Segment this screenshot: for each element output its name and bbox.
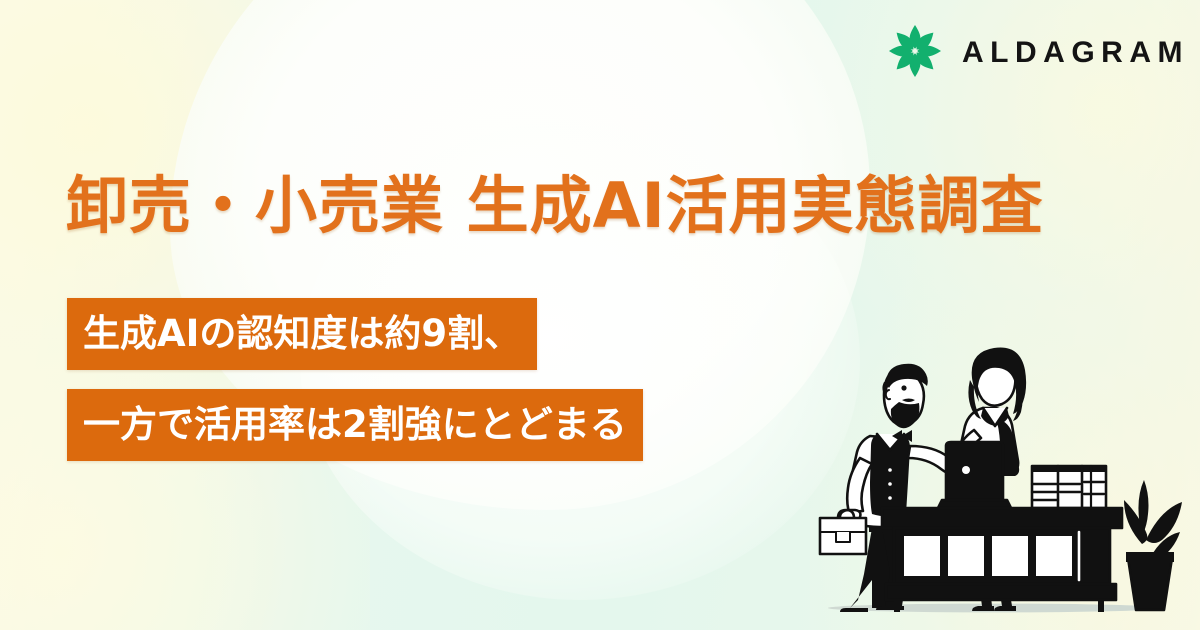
subtitle-line-1: 生成AIの認知度は約9割、 bbox=[67, 298, 537, 370]
subtitle-line-2-row: 一方で活用率は2割強にとどまる bbox=[67, 389, 643, 461]
page-title: 卸売・小売業 生成AI活用実態調査 bbox=[66, 173, 1044, 240]
potted-plant bbox=[1124, 480, 1182, 610]
poster-canvas: ALDAGRAM 卸売・小売業 生成AI活用実態調査 生成AIの認知度は約9割、… bbox=[0, 0, 1200, 630]
brand-wordmark: ALDAGRAM bbox=[962, 38, 1189, 68]
binder-shelf bbox=[1032, 466, 1106, 508]
aldagram-diamond-burst-logo-icon bbox=[884, 20, 946, 82]
subtitle-group: 生成AIの認知度は約9割、 一方で活用率は2割強にとどまる bbox=[67, 298, 643, 461]
brand-logo: ALDAGRAM bbox=[884, 26, 1184, 80]
subtitle-line-2: 一方で活用率は2割強にとどまる bbox=[67, 389, 643, 461]
businessman-and-receptionist-illustration bbox=[806, 322, 1192, 618]
laptop bbox=[938, 442, 1011, 508]
subtitle-line-1-row: 生成AIの認知度は約9割、 bbox=[67, 298, 643, 370]
reception-counter bbox=[882, 508, 1122, 612]
